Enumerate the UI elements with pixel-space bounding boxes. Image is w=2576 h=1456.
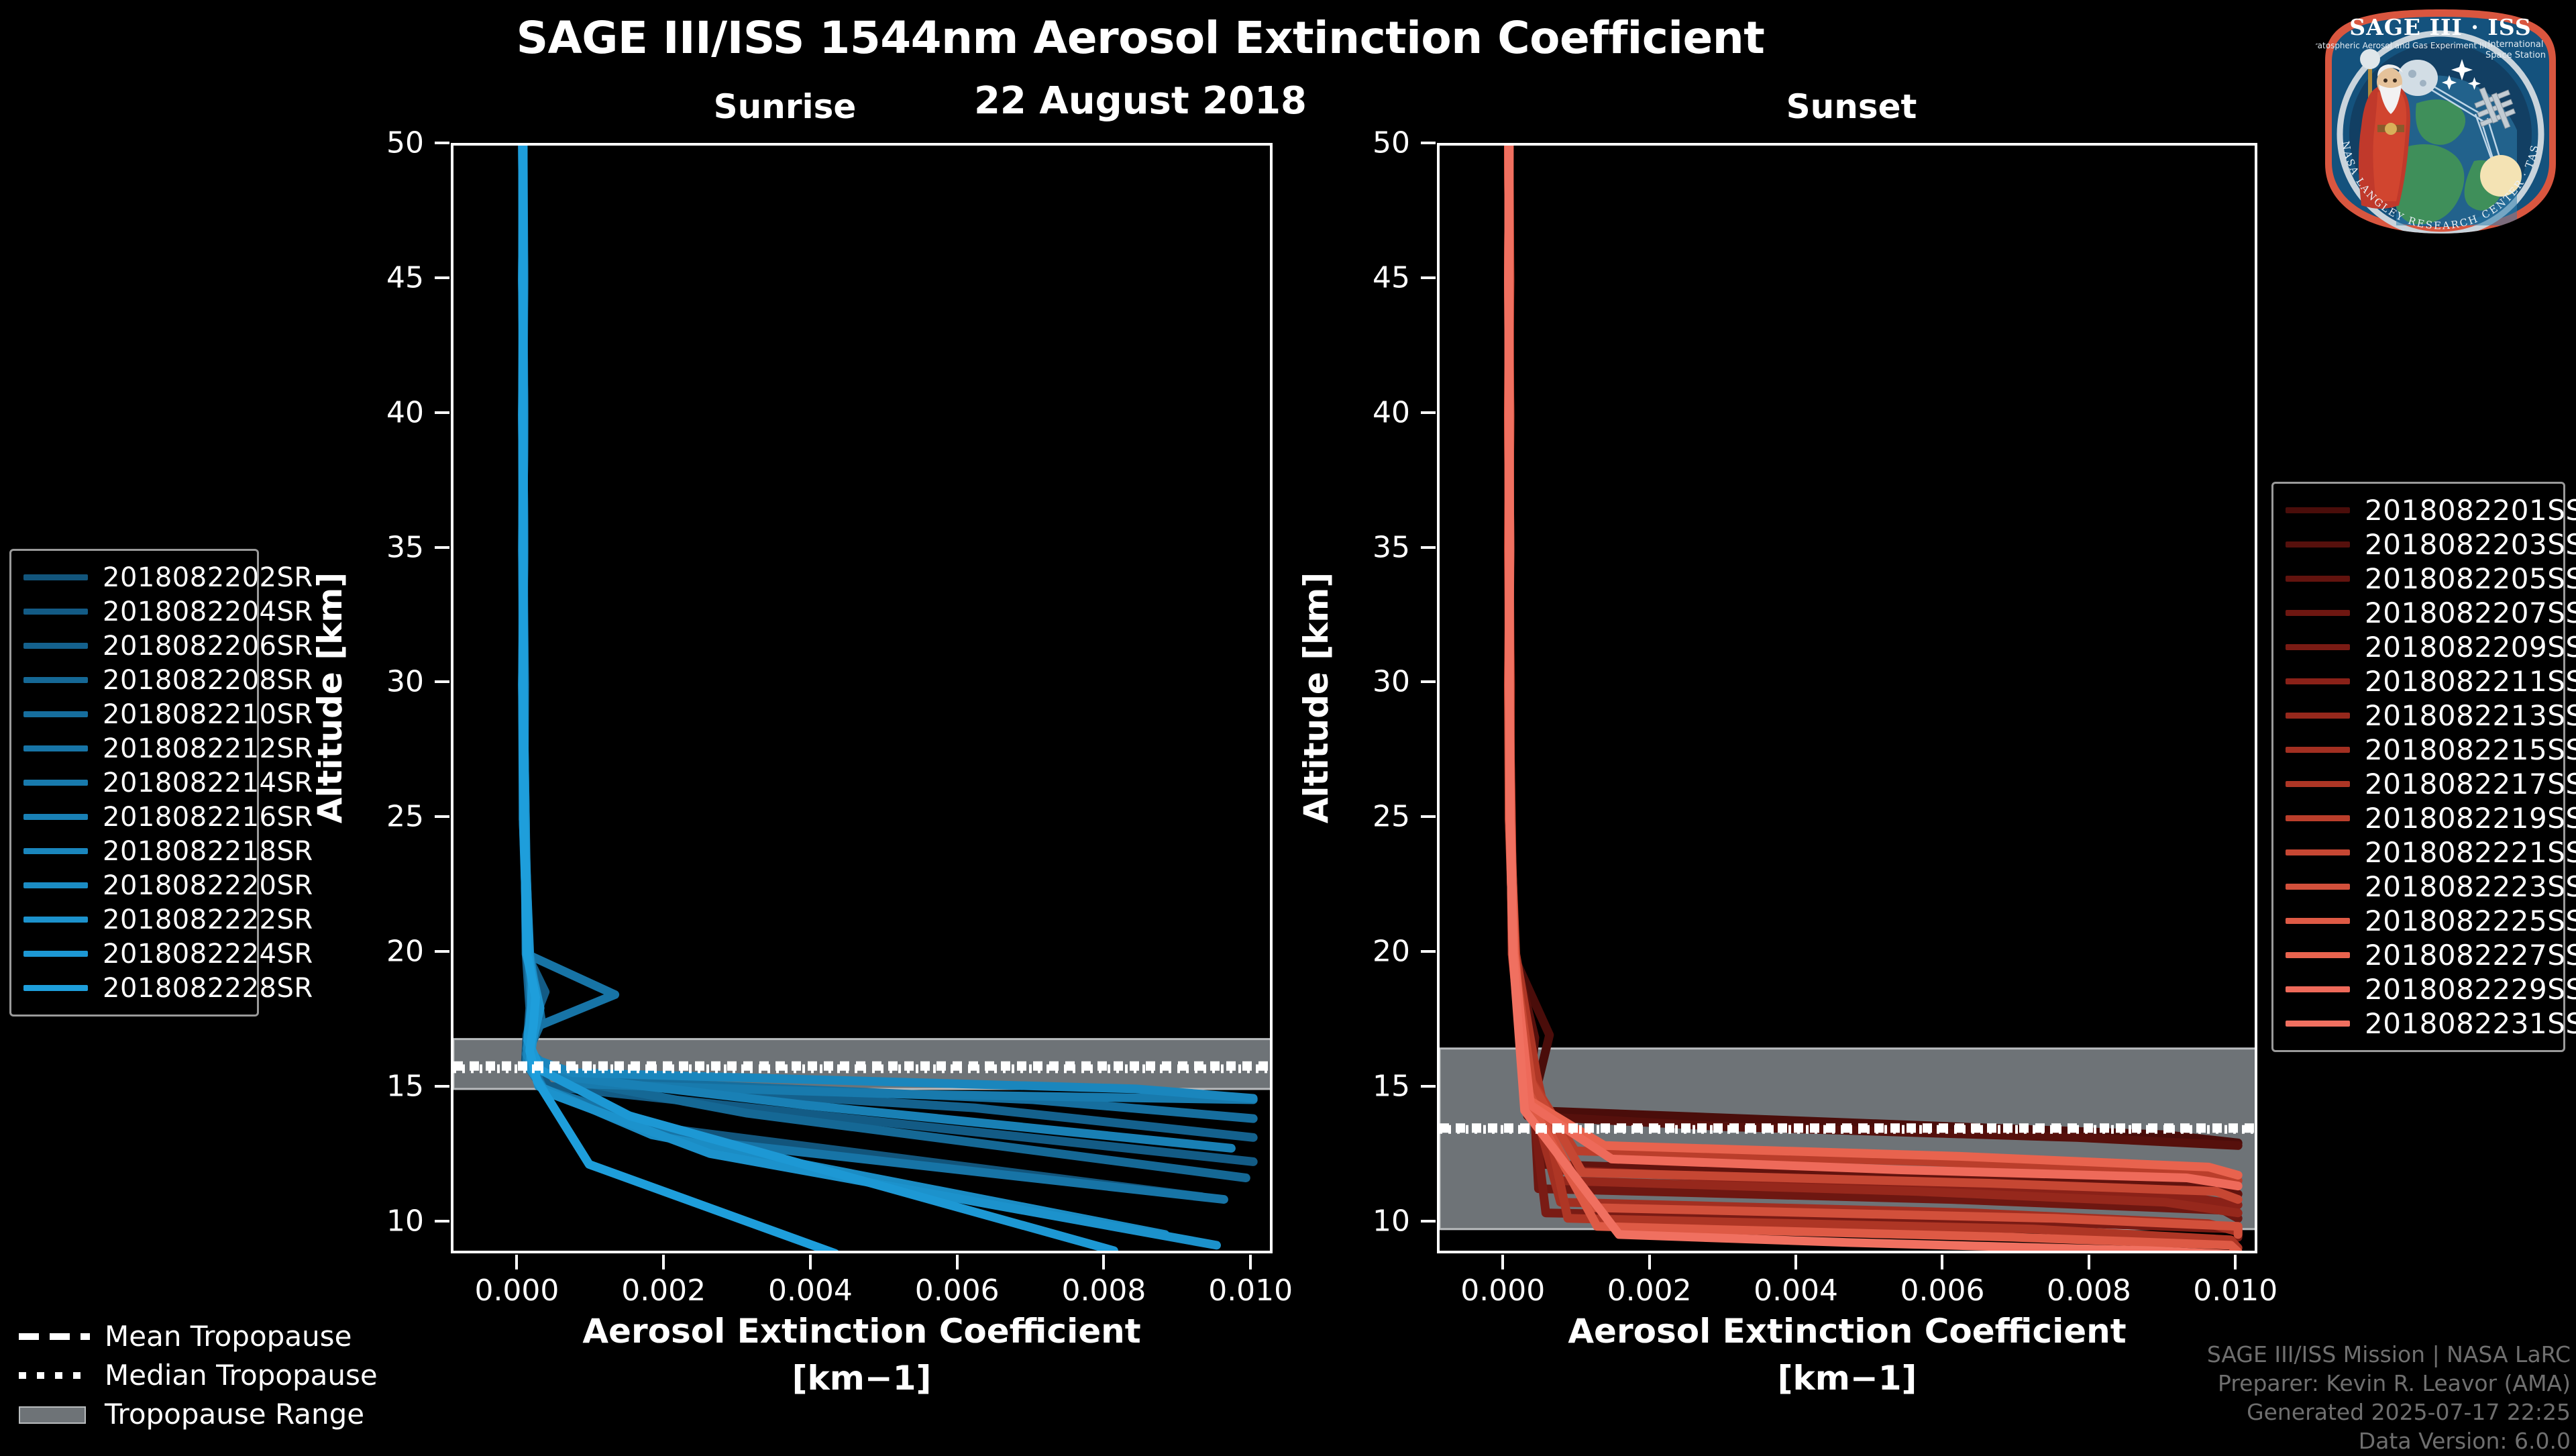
sunset-plot-svg (1440, 146, 2257, 1253)
credit-line: Preparer: Kevin R. Leavor (AMA) (2207, 1369, 2571, 1398)
y-tick-mark (435, 411, 449, 414)
legend-row[interactable]: 2018082219SS (2286, 801, 2551, 835)
legend-series-label: 2018082211SS (2365, 665, 2576, 698)
legend-series-label: 2018082204SR (103, 596, 313, 627)
sunset-series-legend[interactable]: 2018082201SS2018082203SS2018082205SS2018… (2271, 482, 2565, 1052)
tropopause-legend-label: Mean Tropopause (105, 1320, 352, 1353)
x-tick-mark (2088, 1255, 2090, 1269)
legend-row[interactable]: 2018082215SS (2286, 733, 2551, 767)
legend-series-label: 2018082216SR (103, 802, 313, 833)
legend-row[interactable]: 2018082213SS (2286, 698, 2551, 733)
dashed-line-swatch (19, 1333, 90, 1340)
legend-color-swatch (23, 814, 88, 820)
legend-series-label: 2018082212SR (103, 733, 313, 764)
legend-row[interactable]: 2018082216SR (23, 800, 245, 834)
legend-color-swatch (23, 609, 88, 615)
legend-color-swatch (2286, 747, 2350, 753)
legend-row[interactable]: 2018082203SS (2286, 527, 2551, 562)
legend-series-label: 2018082202SR (103, 562, 313, 593)
y-tick-mark (1421, 680, 1436, 683)
y-tick-label: 45 (323, 260, 424, 295)
y-tick-mark (435, 276, 449, 279)
legend-color-swatch (2286, 610, 2350, 616)
legend-series-label: 2018082208SR (103, 665, 313, 696)
legend-color-swatch (2286, 1021, 2350, 1027)
legend-series-label: 2018082223SS (2365, 870, 2576, 903)
tropopause-legend: Mean TropopauseMedian TropopauseTropopau… (19, 1316, 378, 1433)
legend-row[interactable]: 2018082223SS (2286, 870, 2551, 904)
legend-series-label: 2018082228SR (103, 973, 313, 1004)
legend-color-swatch (23, 574, 88, 580)
profile-line (1509, 146, 2239, 1176)
legend-color-swatch (2286, 952, 2350, 958)
legend-row[interactable]: 2018082202SR (23, 560, 245, 594)
legend-series-label: 2018082218SR (103, 836, 313, 867)
tropopause-legend-key (19, 1366, 90, 1384)
legend-color-swatch (2286, 644, 2350, 650)
y-tick-mark (435, 815, 449, 818)
x-tick-mark (1102, 1255, 1105, 1269)
legend-color-swatch (23, 848, 88, 854)
credit-line: SAGE III/ISS Mission | NASA LaRC (2207, 1341, 2571, 1369)
logo-subtitle-right-1: International (2488, 40, 2544, 50)
x-tick-mark (662, 1255, 665, 1269)
legend-series-label: 2018082221SS (2365, 836, 2576, 869)
legend-series-label: 2018082219SS (2365, 802, 2576, 835)
x-tick-mark (809, 1255, 812, 1269)
tropopause-legend-key (19, 1405, 90, 1422)
y-tick-mark (435, 1220, 449, 1223)
legend-row[interactable]: 2018082217SS (2286, 767, 2551, 801)
sunset-x-axis-units: [km−1] (1437, 1359, 2257, 1398)
tropopause-legend-key (19, 1327, 90, 1345)
x-tick-mark (1249, 1255, 1252, 1269)
legend-series-label: 2018082217SS (2365, 768, 2576, 800)
legend-color-swatch (23, 917, 88, 923)
profile-line (1509, 146, 2239, 1143)
legend-series-label: 2018082220SR (103, 870, 313, 901)
profile-line (523, 146, 1246, 1178)
legend-series-label: 2018082215SS (2365, 733, 2576, 766)
credit-line: Data Version: 6.0.0 (2207, 1427, 2571, 1456)
legend-series-label: 2018082225SS (2365, 904, 2576, 937)
sunset-x-axis-title: Aerosol Extinction Coefficient (1437, 1312, 2257, 1351)
legend-color-swatch (2286, 541, 2350, 548)
x-tick-mark (1648, 1255, 1651, 1269)
logo-title: SAGE III · ISS (2349, 14, 2531, 40)
legend-color-swatch (23, 882, 88, 888)
legend-row[interactable]: 2018082205SS (2286, 562, 2551, 596)
y-tick-label: 10 (1309, 1204, 1410, 1238)
legend-row[interactable]: 2018082229SS (2286, 972, 2551, 1006)
sunrise-series-legend[interactable]: 2018082202SR2018082204SR2018082206SR2018… (9, 549, 259, 1017)
tropopause-legend-row: Median Tropopause (19, 1355, 378, 1394)
x-tick-mark (1794, 1255, 1797, 1269)
y-tick-mark (435, 546, 449, 549)
y-tick-label: 50 (323, 126, 424, 160)
profile-line (523, 146, 1253, 1100)
y-tick-label: 50 (1309, 126, 1410, 160)
legend-series-label: 2018082210SR (103, 699, 313, 730)
x-tick-label: 0.010 (2148, 1273, 2322, 1308)
y-tick-label: 20 (1309, 935, 1410, 969)
legend-row[interactable]: 2018082211SS (2286, 664, 2551, 698)
y-tick-mark (1421, 950, 1436, 953)
profile-line (523, 146, 1253, 1137)
legend-color-swatch (23, 780, 88, 786)
sunrise-x-axis-title: Aerosol Extinction Coefficient (451, 1312, 1273, 1351)
profile-line (1509, 146, 2239, 1200)
legend-series-label: 2018082205SS (2365, 562, 2576, 595)
y-tick-mark (1421, 1220, 1436, 1223)
x-tick-mark (2234, 1255, 2237, 1269)
x-tick-mark (956, 1255, 959, 1269)
legend-series-label: 2018082206SR (103, 631, 313, 662)
profile-line (1509, 146, 2239, 1181)
x-tick-mark (1941, 1255, 1943, 1269)
legend-row[interactable]: 2018082209SS (2286, 630, 2551, 664)
y-tick-label: 15 (1309, 1069, 1410, 1103)
y-tick-mark (435, 142, 449, 144)
legend-color-swatch (2286, 918, 2350, 924)
sunrise-plot-svg (453, 146, 1273, 1253)
x-tick-mark (515, 1255, 518, 1269)
sunrise-panel-heading: Sunrise (651, 87, 919, 126)
profile-line (1509, 146, 2239, 1186)
legend-row[interactable]: 2018082227SS (2286, 938, 2551, 972)
y-tick-mark (1421, 411, 1436, 414)
legend-series-label: 2018082203SS (2365, 528, 2576, 561)
profile-line (1509, 146, 2239, 1205)
legend-color-swatch (2286, 678, 2350, 684)
sunrise-y-axis-title: Altitude [km] (311, 530, 350, 866)
legend-row[interactable]: 2018082218SR (23, 834, 245, 868)
sunrise-plot-area (451, 143, 1273, 1253)
legend-color-swatch (23, 643, 88, 649)
legend-color-swatch (2286, 507, 2350, 513)
logo-subtitle-right-2: Space Station (2485, 50, 2546, 60)
legend-row[interactable]: 2018082214SR (23, 766, 245, 800)
y-tick-label: 15 (323, 1069, 424, 1103)
legend-series-label: 2018082227SS (2365, 939, 2576, 972)
y-tick-mark (1421, 142, 1436, 144)
sunset-y-axis-title: Altitude [km] (1297, 530, 1336, 866)
sunset-plot-area (1437, 143, 2257, 1253)
sunset-panel-heading: Sunset (1717, 87, 1986, 126)
legend-color-swatch (23, 951, 88, 957)
legend-color-swatch (2286, 815, 2350, 821)
legend-row[interactable]: 2018082201SS (2286, 493, 2551, 527)
tropopause-legend-row: Mean Tropopause (19, 1316, 378, 1355)
legend-series-label: 2018082231SS (2365, 1007, 2576, 1040)
credits-block: SAGE III/ISS Mission | NASA LaRCPreparer… (2207, 1341, 2571, 1456)
y-tick-label: 45 (1309, 260, 1410, 295)
profile-line (523, 146, 1253, 1119)
x-tick-mark (1501, 1255, 1504, 1269)
y-tick-label: 10 (323, 1204, 424, 1238)
y-tick-label: 20 (323, 935, 424, 969)
legend-row[interactable]: 2018082212SR (23, 731, 245, 766)
legend-row[interactable]: 2018082210SR (23, 697, 245, 731)
legend-row[interactable]: 2018082204SR (23, 594, 245, 629)
y-tick-mark (1421, 276, 1436, 279)
legend-color-swatch (23, 711, 88, 717)
legend-series-label: 2018082201SS (2365, 494, 2576, 527)
legend-color-swatch (2286, 576, 2350, 582)
tropopause-legend-label: Tropopause Range (105, 1398, 364, 1431)
y-tick-label: 40 (1309, 395, 1410, 429)
x-tick-label: 0.010 (1163, 1273, 1338, 1308)
tropopause-legend-row: Tropopause Range (19, 1394, 378, 1433)
legend-color-swatch (2286, 849, 2350, 855)
legend-series-label: 2018082222SR (103, 904, 313, 935)
logo-subtitle-left: Stratospheric Aerosol and Gas Experiment… (2316, 41, 2487, 50)
legend-color-swatch (23, 677, 88, 683)
legend-row[interactable]: 2018082222SR (23, 902, 245, 937)
y-tick-mark (1421, 815, 1436, 818)
legend-color-swatch (2286, 986, 2350, 992)
legend-row[interactable]: 2018082231SS (2286, 1006, 2551, 1041)
legend-row[interactable]: 2018082221SS (2286, 835, 2551, 870)
legend-color-swatch (2286, 713, 2350, 719)
tropopause-range-swatch (19, 1406, 86, 1424)
legend-series-label: 2018082209SS (2365, 631, 2576, 664)
legend-color-swatch (23, 985, 88, 991)
dotted-line-swatch (19, 1372, 90, 1379)
y-tick-label: 40 (323, 395, 424, 429)
legend-row[interactable]: 2018082220SR (23, 868, 245, 902)
sunrise-x-axis-units: [km−1] (451, 1359, 1273, 1398)
legend-series-label: 2018082224SR (103, 939, 313, 970)
profile-line (1509, 146, 2239, 1145)
legend-series-label: 2018082214SR (103, 768, 313, 798)
credit-line: Generated 2025-07-17 22:25 (2207, 1398, 2571, 1427)
y-tick-mark (1421, 546, 1436, 549)
y-tick-mark (1421, 1085, 1436, 1088)
y-tick-mark (435, 1085, 449, 1088)
profile-line (1509, 146, 2239, 1194)
legend-row[interactable]: 2018082207SS (2286, 596, 2551, 630)
profile-line (523, 146, 1253, 1161)
sage-iii-iss-mission-patch-logo: BALL · NASA LANGLEY RESEARCH CENTER · TA… (2316, 3, 2565, 239)
legend-row[interactable]: 2018082228SR (23, 971, 245, 1005)
legend-row[interactable]: 2018082225SS (2286, 904, 2551, 938)
page-title: SAGE III/ISS 1544nm Aerosol Extinction C… (0, 12, 2281, 64)
legend-color-swatch (2286, 884, 2350, 890)
legend-row[interactable]: 2018082206SR (23, 629, 245, 663)
legend-series-label: 2018082229SS (2365, 973, 2576, 1006)
legend-color-swatch (23, 745, 88, 751)
legend-series-label: 2018082213SS (2365, 699, 2576, 732)
y-tick-mark (435, 680, 449, 683)
legend-series-label: 2018082207SS (2365, 596, 2576, 629)
legend-row[interactable]: 2018082208SR (23, 663, 245, 697)
y-tick-mark (435, 950, 449, 953)
profile-line (523, 146, 1253, 1098)
legend-row[interactable]: 2018082224SR (23, 937, 245, 971)
tropopause-legend-label: Median Tropopause (105, 1359, 378, 1392)
legend-color-swatch (2286, 781, 2350, 787)
profile-line (523, 146, 1232, 1148)
